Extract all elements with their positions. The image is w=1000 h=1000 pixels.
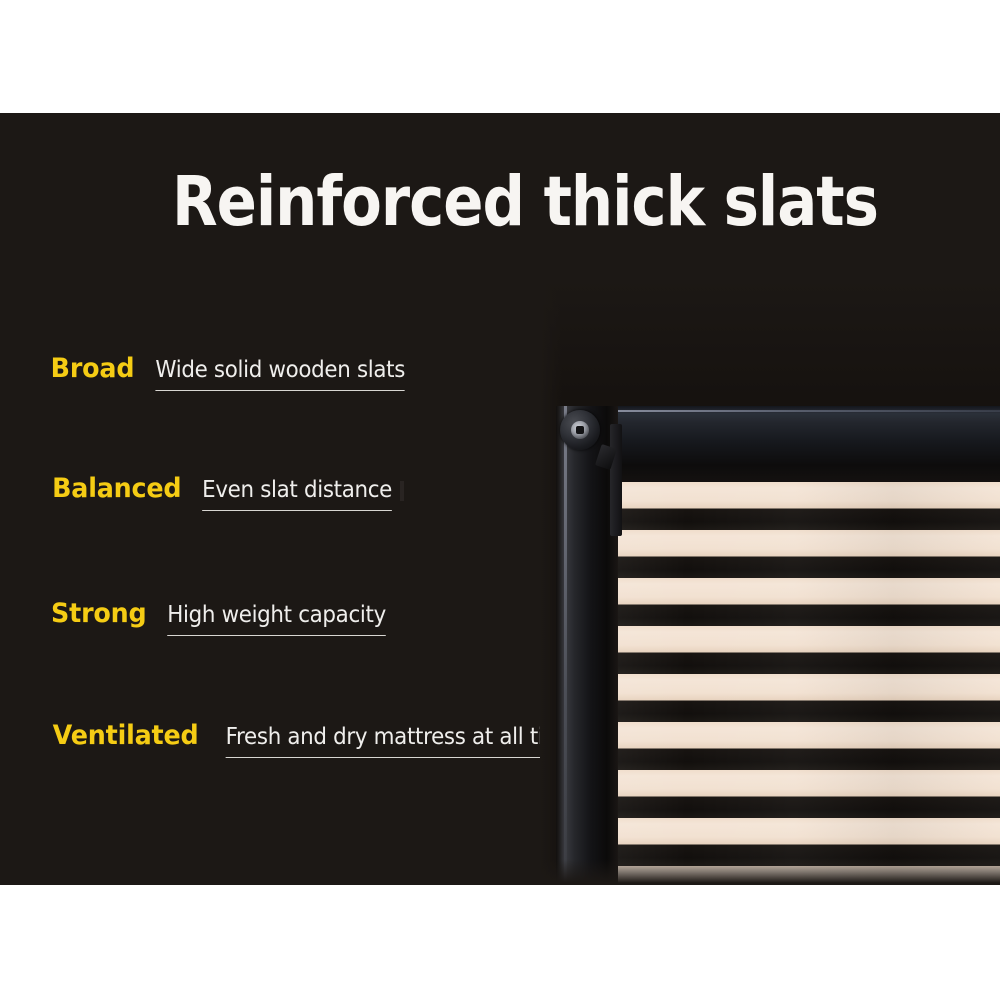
scan-artifact: [400, 481, 404, 501]
promo-image: Reinforced thick slats Broad Wide solid …: [0, 0, 1000, 1000]
feature-key: Broad: [51, 353, 135, 384]
feature-value: Wide solid wooden slats: [155, 357, 405, 391]
top-rail: [556, 406, 1000, 482]
photo-fade-top: [540, 278, 1000, 398]
feature-value: Fresh and dry mattress at all times: [226, 724, 588, 758]
feature-key: Balanced: [52, 473, 181, 504]
left-rail: [556, 406, 618, 885]
corner-bolt-icon: [560, 410, 600, 450]
wooden-slats: [618, 482, 1000, 885]
feature-key: Strong: [51, 598, 146, 629]
page-title: Reinforced thick slats: [172, 166, 826, 238]
feature-key: Ventilated: [53, 720, 199, 751]
product-photo: [540, 278, 1000, 885]
list-item: Broad Wide solid wooden slats: [48, 353, 414, 391]
list-item: Strong High weight capacity: [48, 598, 394, 636]
promo-panel: Reinforced thick slats Broad Wide solid …: [0, 113, 1000, 885]
list-item: Balanced Even slat distance: [48, 473, 399, 511]
list-item: Ventilated Fresh and dry mattress at all…: [48, 720, 601, 758]
bolt-head-icon: [571, 421, 589, 439]
feature-value: Even slat distance: [202, 477, 392, 511]
feature-value: High weight capacity: [167, 602, 386, 636]
